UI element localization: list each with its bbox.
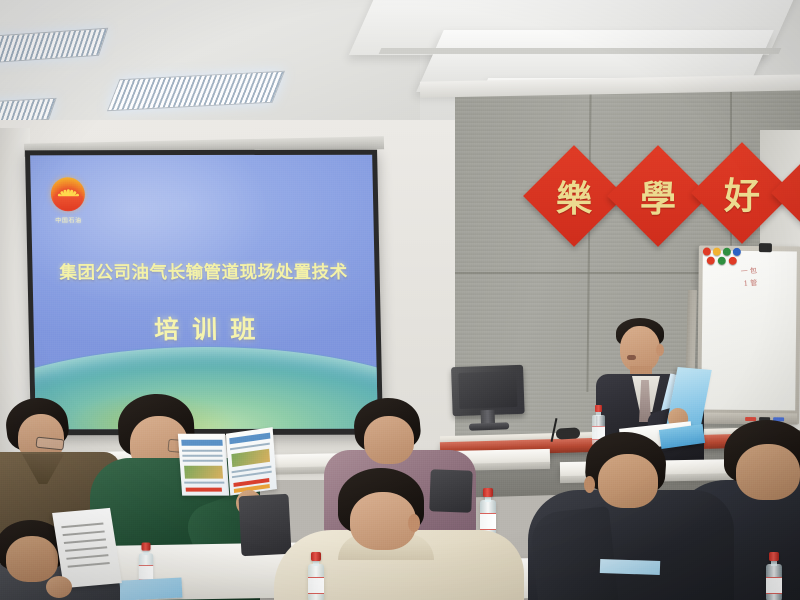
attendee-head [6, 536, 58, 582]
attendee-front-left [0, 520, 120, 600]
whiteboard-magnets [703, 248, 755, 267]
projection-screen: 中国石油 集团公司油气长输管道现场处置技术 培训班 [30, 155, 378, 430]
placard-character: 学 [786, 157, 800, 229]
brochure-left-page [178, 434, 229, 496]
cnpc-sun-logo: 中国石油 [47, 177, 90, 229]
attendee-hand [46, 576, 72, 598]
whiteboard-surface: 一 包 1 管 [701, 251, 797, 411]
attendee-shoulder [529, 506, 619, 600]
training-brochure [178, 429, 278, 498]
slide-title: 集团公司油气长输管道现场处置技术 [32, 259, 375, 285]
logo-label: 中国石油 [47, 215, 89, 224]
blue-document-right [600, 559, 660, 575]
attendee-head [350, 492, 416, 550]
attendee-head [364, 416, 414, 464]
brochure-right-page [226, 427, 277, 495]
placard-character: 好 [706, 157, 778, 229]
presenter-mouth [627, 355, 636, 360]
whiteboard-clip [759, 243, 772, 252]
placard-character: 學 [622, 160, 694, 232]
slide-subtitle: 培训班 [33, 310, 376, 347]
training-room-photo: 中国石油 集团公司油气长输管道现场处置技术 培训班 樂 學 好 学 一 包 1 … [0, 0, 800, 600]
water-bottle [766, 552, 782, 600]
attendee-ear [408, 514, 420, 532]
attendee-head [736, 444, 800, 500]
presenter-ear [656, 344, 664, 356]
whiteboard-writing-line-2: 1 管 [743, 276, 796, 289]
attendee-dark-suit-center [540, 432, 730, 600]
attendee-ear [584, 476, 595, 493]
whiteboard: 一 包 1 管 [697, 245, 800, 424]
ceiling-coffer-edge [379, 48, 782, 54]
attendee-head [598, 454, 658, 508]
monitor-base [469, 422, 509, 430]
placard-character: 樂 [538, 160, 610, 232]
water-bottle [308, 552, 324, 600]
projection-screen-frame: 中国石油 集团公司油气长输管道现场处置技术 培训班 [25, 150, 383, 436]
